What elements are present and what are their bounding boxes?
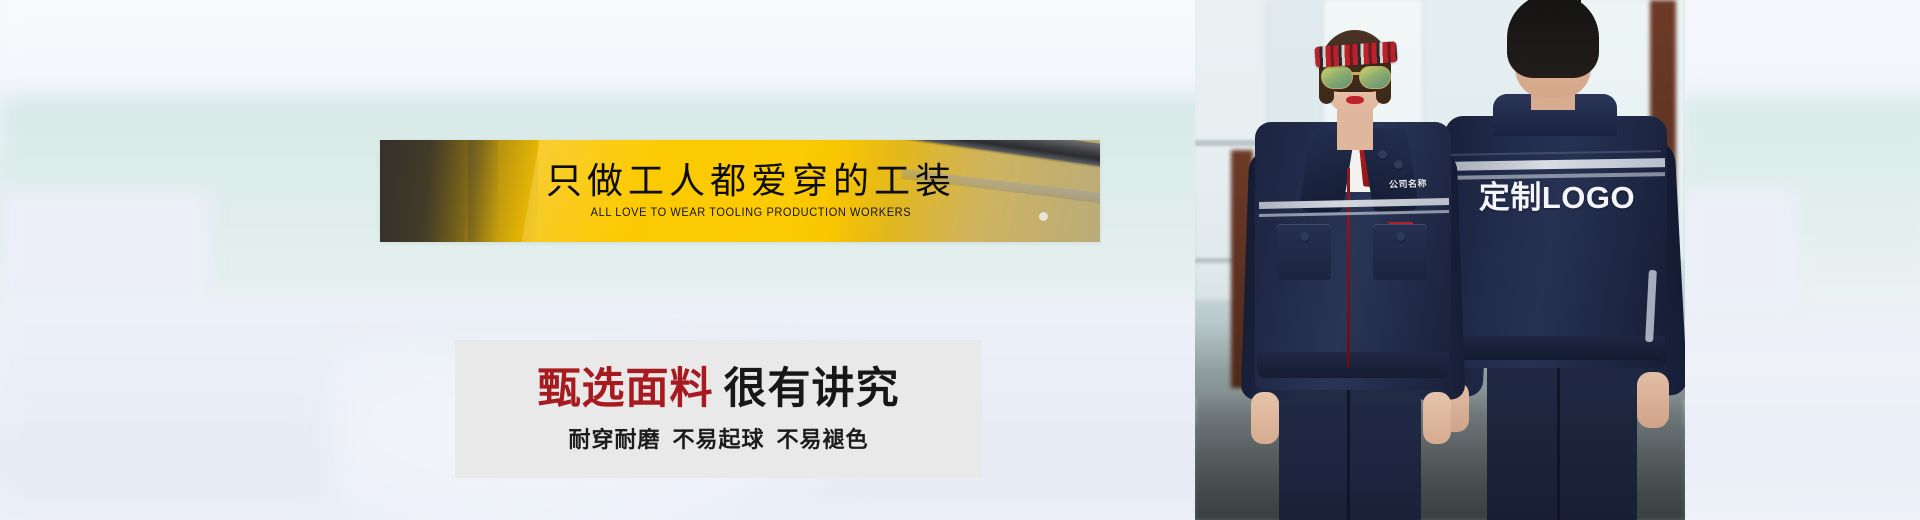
fabric-claim-highlight: 甄选面料: [538, 365, 714, 413]
promo-banner: 只做工人都爱穿的工装 ALL LOVE TO WEAR TOOLING PROD…: [0, 0, 1920, 520]
background-right-notch: [1680, 190, 1800, 310]
male-trouser-seam: [1557, 368, 1560, 520]
sunglasses-lens-left: [1321, 66, 1353, 89]
headline-subtitle-english: ALL LOVE TO WEAR TOOLING PRODUCTION WORK…: [591, 208, 911, 220]
company-name-embroidery: 公司名称: [1381, 177, 1435, 192]
fabric-claim-plain: 很有讲究: [724, 365, 900, 413]
product-photo: 定制LOGO: [1195, 0, 1685, 520]
female-pocket-button: [1396, 232, 1405, 241]
fabric-claim-card: 甄选面料很有讲究 耐穿耐磨不易起球不易褪色: [455, 340, 982, 478]
male-hair: [1507, 0, 1599, 78]
ribbon-text-group: 只做工人都爱穿的工装 ALL LOVE TO WEAR TOOLING PROD…: [380, 140, 1100, 242]
male-trousers: [1487, 352, 1637, 520]
sunglasses-lens-right: [1359, 66, 1391, 89]
female-left-hand: [1251, 392, 1279, 444]
custom-logo-print: 定制LOGO: [1459, 178, 1655, 218]
headline-ribbon: 只做工人都爱穿的工装 ALL LOVE TO WEAR TOOLING PROD…: [380, 140, 1100, 242]
female-jacket-hem: [1257, 352, 1449, 378]
female-right-hand: [1423, 392, 1451, 444]
female-collar-snap: [1394, 160, 1403, 169]
sunglasses-icon: [1321, 66, 1391, 87]
female-collar-snap: [1378, 150, 1387, 159]
fabric-feature-item: 不易起球: [672, 427, 764, 452]
background-left-notch: [0, 190, 210, 310]
headline-title: 只做工人都爱穿的工装: [546, 163, 956, 199]
female-pocket-button: [1300, 232, 1309, 241]
fabric-feature-list: 耐穿耐磨不易起球不易褪色: [562, 429, 874, 451]
background-top-highlight: [0, 0, 1230, 106]
female-trouser-seam: [1347, 382, 1350, 520]
female-trousers: [1279, 370, 1421, 520]
fabric-feature-item: 耐穿耐磨: [568, 427, 660, 452]
fabric-claim-title: 甄选面料很有讲究: [538, 368, 900, 411]
male-jacket-hem: [1447, 336, 1665, 360]
female-lips: [1346, 96, 1364, 104]
fabric-feature-item: 不易褪色: [777, 427, 869, 452]
male-right-hand: [1637, 372, 1669, 428]
female-front-zip: [1347, 168, 1350, 368]
